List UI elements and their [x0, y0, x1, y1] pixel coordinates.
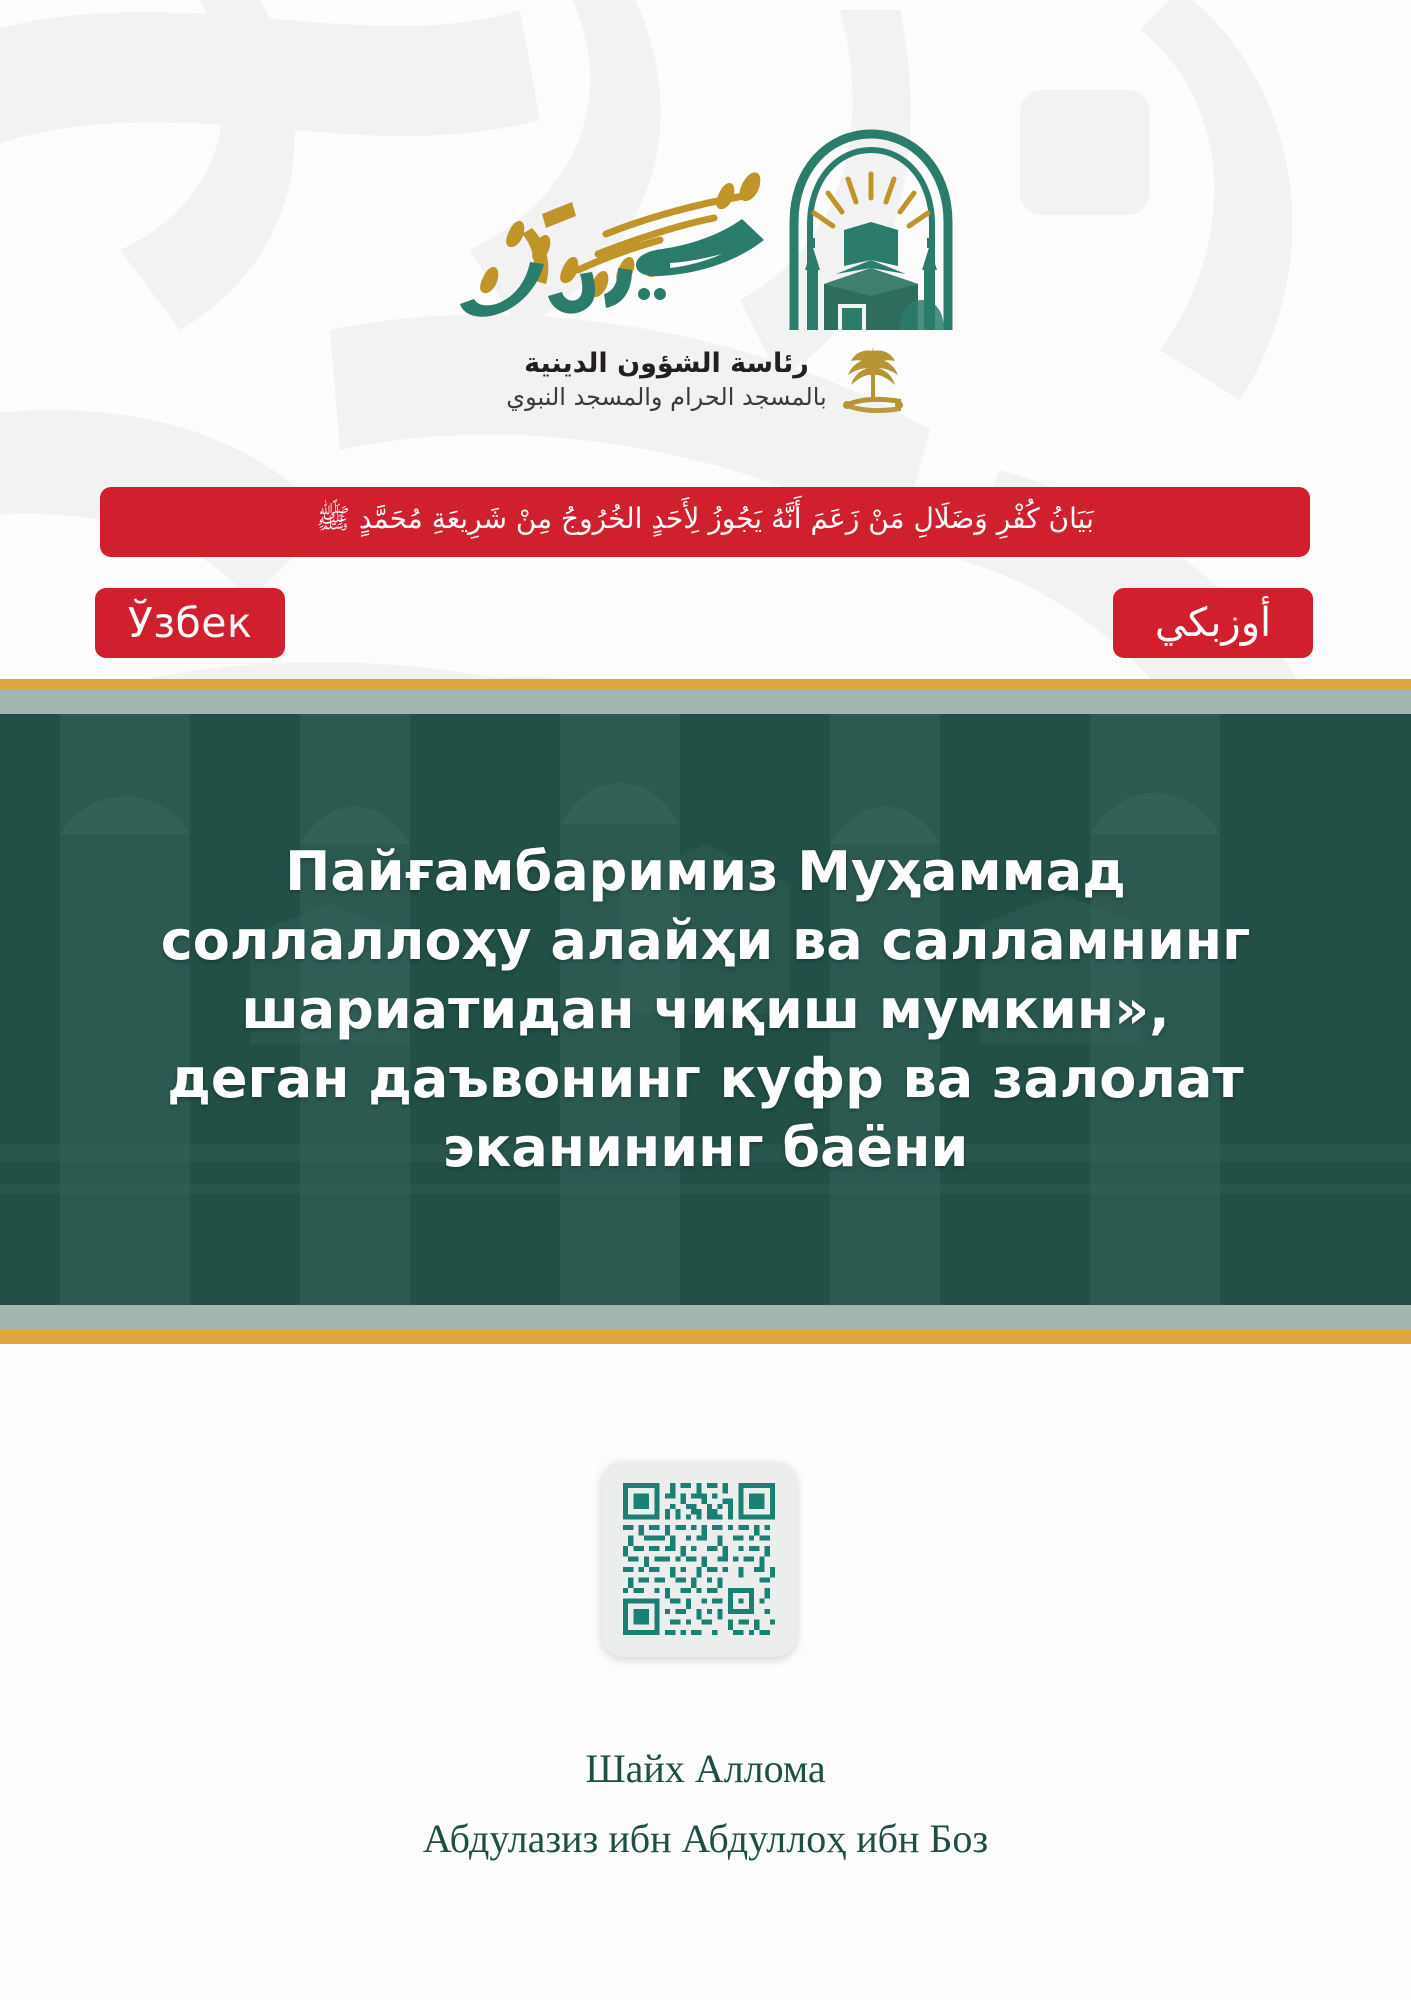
banner-gold-stripe-top: [0, 679, 1411, 690]
title-line-1: Пайғамбаримиз Муҳаммад: [91, 837, 1321, 906]
logo-subtitle-line2: بالمسجد الحرام والمسجد النبوي: [506, 383, 826, 411]
logo-block: رئاسة الشؤون الدينية بالمسجد الحرام والم…: [0, 118, 1411, 417]
arabic-title-banner: بَيَانُ كُفْرِ وَضَلَالِ مَنْ زَعَمَ أَن…: [100, 487, 1310, 557]
haramain-calligraphy-icon: [446, 144, 776, 324]
qr-code-card[interactable]: [601, 1461, 797, 1657]
author-line-2: Абдулазиз ибн Абдуллоҳ ибн Боз: [0, 1810, 1411, 1868]
title-line-2: соллаллоҳу алайҳи ва салламнинг: [91, 906, 1321, 975]
language-chip-uzbek-latin[interactable]: Ўзбек: [95, 588, 285, 658]
title-line-3: шариатидан чиқиш мумкин»,: [91, 975, 1321, 1044]
qr-code-icon: [623, 1483, 775, 1635]
banner-sage-stripe-top: [0, 690, 1411, 714]
arabic-title-text: بَيَانُ كُفْرِ وَضَلَالِ مَنْ زَعَمَ أَن…: [300, 502, 1110, 542]
title-banner-text: Пайғамбаримиз Муҳаммад соллаллоҳу алайҳи…: [91, 837, 1321, 1183]
poster-page: رئاسة الشؤون الدينية بالمسجد الحرام والم…: [0, 0, 1411, 2000]
banner-gold-stripe-bottom: [0, 1330, 1411, 1344]
logo-main: [446, 118, 966, 333]
saudi-palm-swords-emblem-icon: [841, 343, 905, 417]
logo-subtitle-line1: رئاسة الشؤون الدينية: [524, 348, 809, 380]
language-chip-uzbek-arabic[interactable]: أوزبكي: [1113, 588, 1313, 658]
logo-subtitle: رئاسة الشؤون الدينية بالمسجد الحرام والم…: [506, 343, 904, 417]
mosque-arch-emblem-icon: [776, 118, 966, 333]
title-banner: Пайғамбаримиз Муҳаммад соллаллоҳу алайҳи…: [0, 714, 1411, 1305]
language-chip-right-label: أوزبكي: [1155, 600, 1271, 646]
banner-sage-stripe-bottom: [0, 1305, 1411, 1330]
title-line-5: эканининг баёни: [91, 1113, 1321, 1182]
author-line-1: Шайх Аллома: [0, 1740, 1411, 1798]
title-line-4: деган даъвонинг куфр ва залолат: [91, 1044, 1321, 1113]
author-credit: Шайх Аллома Абдулазиз ибн Абдуллоҳ ибн Б…: [0, 1740, 1411, 1868]
language-chip-left-label: Ўзбек: [128, 599, 253, 647]
